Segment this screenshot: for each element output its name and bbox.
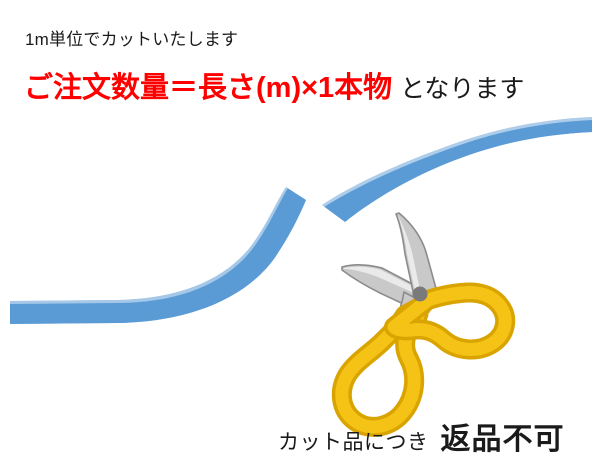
scissors	[342, 213, 505, 427]
blue-cord-right-segment	[322, 117, 592, 222]
blue-cord-left-segment	[10, 187, 306, 324]
cut-unit-note: 1m単位でカットいたします	[25, 28, 238, 52]
no-return-prefix: カット品につき	[278, 431, 429, 454]
scissors-pivot-screw	[413, 287, 428, 302]
no-return-emphasis: 返品不可	[441, 423, 565, 456]
order-rule-emphasis: ご注文数量＝長さ(m)×1本物	[24, 72, 392, 104]
order-rule-line: ご注文数量＝長さ(m)×1本物となります	[24, 68, 524, 109]
poster-canvas: 1m単位でカットいたします ご注文数量＝長さ(m)×1本物となります カット品に…	[0, 0, 600, 466]
no-return-note: カット品につき返品不可	[278, 414, 565, 458]
order-rule-tail: となります	[400, 75, 524, 103]
